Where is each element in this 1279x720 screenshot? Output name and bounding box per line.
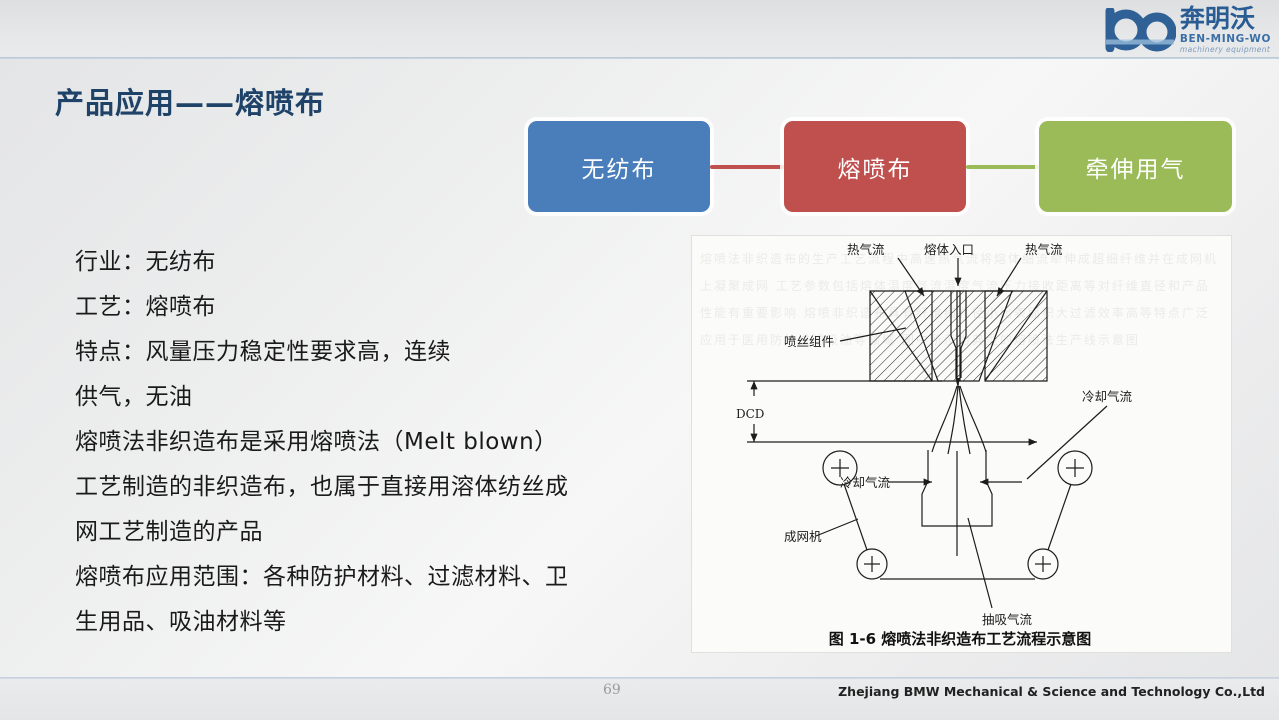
body-text: 行业：无纺布 工艺：熔喷布 特点：风量压力稳定性要求高，连续 供气，无油 熔喷法… [75, 240, 675, 645]
diagram-label-cooling-air-center: 冷却气流 [840, 475, 891, 490]
body-line: 工艺：熔喷布 [75, 285, 675, 330]
flow-box-label: 熔喷布 [838, 150, 913, 184]
diagram-label-cooling-air-right: 冷却气流 [1082, 389, 1133, 404]
meltblown-process-diagram: 熔喷法非织造布的生产工艺流程中高速热气流将熔体细流牵伸成超细纤维并在成网机上凝聚… [691, 235, 1232, 653]
diagram-label-web-former: 成网机 [784, 529, 822, 544]
body-line: 特点：风量压力稳定性要求高，连续 [75, 330, 675, 375]
flow-box-draw-air[interactable]: 牵伸用气 [1039, 121, 1232, 212]
diagram-label-melt-inlet: 熔体入口 [924, 242, 974, 257]
body-line: 行业：无纺布 [75, 240, 675, 285]
diagram-label-hot-air-left: 热气流 [847, 242, 885, 257]
process-flow: 无纺布 熔喷布 牵伸用气 [528, 121, 1232, 212]
page-number: 69 [603, 682, 621, 698]
logo-tagline: machinery equipment [1180, 46, 1271, 54]
logo-romanized-name: BEN-MING-WO [1180, 34, 1271, 45]
bo-monogram-icon [1104, 8, 1176, 52]
flow-box-label: 无纺布 [582, 150, 657, 184]
diagram-label-spinneret: 喷丝组件 [784, 334, 834, 349]
flow-box-meltblown[interactable]: 熔喷布 [784, 121, 966, 212]
slide: 奔明沃 BEN-MING-WO machinery equipment 产品应用… [0, 0, 1279, 720]
logo-text-block: 奔明沃 BEN-MING-WO machinery equipment [1180, 6, 1271, 54]
body-line: 生用品、吸油材料等 [75, 600, 675, 645]
company-name: Zhejiang BMW Mechanical & Science and Te… [838, 684, 1265, 699]
diagram-drawing: 热气流 熔体入口 热气流 喷丝组件 冷却气流 冷却气流 DCD 成网机 抽吸气流… [692, 236, 1231, 652]
body-line: 熔喷布应用范围：各种防护材料、过滤材料、卫 [75, 555, 675, 600]
diagram-caption: 图 1-6 熔喷法非织造布工艺流程示意图 [829, 630, 1092, 648]
diagram-label-suction-air: 抽吸气流 [982, 612, 1033, 627]
diagram-label-hot-air-right: 热气流 [1025, 242, 1063, 257]
body-line: 熔喷法非织造布是采用熔喷法（Melt blown） [75, 420, 675, 465]
flow-box-label: 牵伸用气 [1086, 150, 1186, 184]
header-divider [0, 57, 1279, 59]
page-title: 产品应用——熔喷布 [55, 80, 325, 122]
flow-connector-red [710, 165, 784, 169]
body-line: 网工艺制造的产品 [75, 510, 675, 555]
flow-connector-green [966, 165, 1039, 169]
diagram-label-dcd: DCD [736, 407, 764, 421]
body-line: 工艺制造的非织造布，也属于直接用溶体纺丝成 [75, 465, 675, 510]
company-logo: 奔明沃 BEN-MING-WO machinery equipment [1079, 3, 1271, 56]
flow-box-nonwoven[interactable]: 无纺布 [528, 121, 710, 212]
logo-chinese-name: 奔明沃 [1180, 6, 1271, 31]
body-line: 供气，无油 [75, 375, 675, 420]
